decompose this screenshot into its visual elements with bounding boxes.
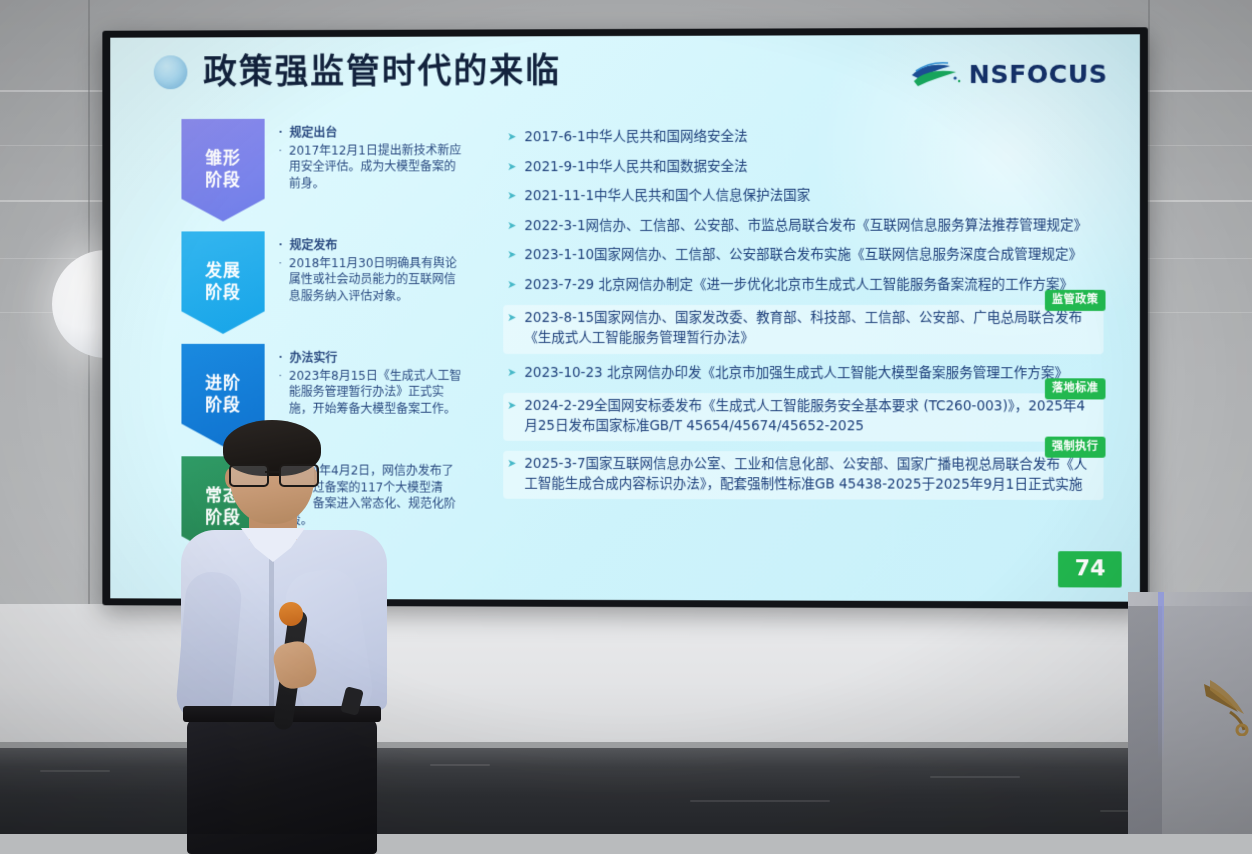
presenter-shirt-placket bbox=[269, 558, 274, 708]
status-badge-supervision-policy: 监管政策 bbox=[1045, 290, 1106, 311]
stage-chevron-2: 发展 阶段 bbox=[181, 231, 264, 334]
bullet-text: 2021-11-1中华人民共和国个人信息保护法国家 bbox=[524, 186, 1103, 206]
arrow-bullet-icon: ➤ bbox=[507, 246, 516, 266]
arrow-bullet-icon: ➤ bbox=[507, 276, 516, 296]
stage-heading-row: · 办法实行 bbox=[279, 350, 466, 367]
arrow-bullet-icon: ➤ bbox=[507, 455, 516, 494]
stage-label-line1: 发展 bbox=[205, 262, 241, 283]
arrow-bullet-icon: ➤ bbox=[507, 187, 516, 207]
stage-detail-row: · 2018年11月30日明确具有舆论属性或社会动员能力的互联网信息服务纳入评估… bbox=[279, 255, 466, 305]
stage-detail-row: · 2023年8月15日《生成式人工智能服务管理暂行办法》正式实施，开始筹备大模… bbox=[279, 367, 466, 417]
presenter-person bbox=[175, 420, 390, 834]
slide-title-row: 政策强监管时代的来临 bbox=[154, 54, 561, 89]
list-item: ➤ 2021-11-1中华人民共和国个人信息保护法国家 bbox=[507, 186, 1103, 206]
stage-label-line1: 进阶 bbox=[205, 374, 241, 395]
stage-detail: 2018年11月30日明确具有舆论属性或社会动员能力的互联网信息服务纳入评估对象… bbox=[289, 255, 465, 305]
lectern-podium bbox=[1128, 592, 1252, 834]
stage-heading: 规定发布 bbox=[290, 237, 338, 254]
stage-item: 雏形 阶段 · 规定出台 · 2017年12月1日提出新技术新应用安全评估。成为… bbox=[181, 118, 469, 221]
status-badge-mandatory-enforcement: 强制执行 bbox=[1045, 437, 1106, 458]
bullet-text: 2023-10-23 北京网信办印发《北京市加强生成式人工智能大模型备案服务管理… bbox=[524, 363, 1103, 383]
arrow-bullet-icon: ➤ bbox=[507, 309, 516, 348]
stage-heading: 办法实行 bbox=[290, 350, 338, 367]
bullet-text: 2022-3-1网信办、工信部、公安部、市监总局联合发布《互联网信息服务算法推荐… bbox=[524, 216, 1103, 236]
stage-label-line2: 阶段 bbox=[205, 395, 241, 416]
nsfocus-logo: NSFOCUS bbox=[909, 59, 1107, 90]
arrow-bullet-icon: ➤ bbox=[507, 158, 516, 178]
stage-label-line1: 雏形 bbox=[205, 149, 241, 170]
stage-heading-row: · 规定发布 bbox=[279, 237, 466, 254]
bullet-dot-icon: · bbox=[279, 125, 283, 141]
wall-seam bbox=[1148, 0, 1150, 640]
podium-emblem-icon bbox=[1200, 678, 1252, 736]
bullet-text: 2025-3-7国家互联网信息办公室、工业和信息化部、公安部、国家广播电视总局联… bbox=[524, 455, 1096, 495]
list-item-highlighted: ➤ 2023-8-15国家网信办、国家发改委、教育部、科技部、工信部、公安部、广… bbox=[503, 305, 1103, 353]
bullet-text: 2024-2-29全国网安标委发布《生成式人工智能服务安全基本要求 (TC260… bbox=[524, 397, 1096, 437]
presenter-glasses-icon bbox=[229, 464, 317, 483]
podium-top-surface bbox=[1128, 592, 1252, 606]
bullet-dot-icon: · bbox=[279, 255, 282, 304]
bullet-text: 2023-1-10国家网信办、工信部、公安部联合发布实施《互联网信息服务深度合成… bbox=[524, 246, 1103, 266]
stage-heading-row: · 规定出台 bbox=[279, 124, 466, 141]
nsfocus-logo-text: NSFOCUS bbox=[969, 59, 1108, 89]
bullet-text: 2021-9-1中华人民共和国数据安全法 bbox=[524, 157, 1103, 178]
title-bullet-circle-icon bbox=[154, 55, 188, 89]
stage-chevron-1: 雏形 阶段 bbox=[181, 119, 264, 222]
bullet-dot-icon: · bbox=[279, 142, 282, 191]
stage-item: 发展 阶段 · 规定发布 · 2018年11月30日明确具有舆论属性或社会动员能… bbox=[181, 231, 469, 334]
stage-body-2: · 规定发布 · 2018年11月30日明确具有舆论属性或社会动员能力的互联网信… bbox=[265, 231, 470, 334]
arrow-bullet-icon: ➤ bbox=[507, 217, 516, 237]
list-item: ➤ 2023-1-10国家网信办、工信部、公安部联合发布实施《互联网信息服务深度… bbox=[507, 246, 1103, 266]
bullet-dot-icon: · bbox=[279, 237, 283, 253]
stage-detail: 2017年12月1日提出新技术新应用安全评估。成为大模型备案的前身。 bbox=[289, 142, 465, 192]
arrow-bullet-icon: ➤ bbox=[507, 397, 516, 436]
podium-side-panel bbox=[1128, 592, 1162, 834]
stage-detail-row: · 2017年12月1日提出新技术新应用安全评估。成为大模型备案的前身。 bbox=[279, 142, 466, 192]
bullet-dot-icon: · bbox=[279, 350, 283, 366]
arrow-bullet-icon: ➤ bbox=[507, 128, 516, 148]
bullet-text: 2023-8-15国家网信办、国家发改委、教育部、科技部、工信部、公安部、广电总… bbox=[524, 309, 1096, 348]
arrow-bullet-icon: ➤ bbox=[507, 363, 516, 383]
list-item: ➤ 2022-3-1网信办、工信部、公安部、市监总局联合发布《互联网信息服务算法… bbox=[507, 216, 1103, 236]
policy-timeline-list: ➤ 2017-6-1中华人民共和国网络安全法 ➤ 2021-9-1中华人民共和国… bbox=[507, 127, 1103, 510]
stage-label-line2: 阶段 bbox=[205, 283, 241, 304]
stage-label-line2: 阶段 bbox=[205, 170, 241, 191]
page-number-badge: 74 bbox=[1058, 551, 1121, 587]
list-item: ➤ 2021-9-1中华人民共和国数据安全法 bbox=[507, 157, 1103, 178]
stage-heading: 规定出台 bbox=[290, 125, 338, 142]
page-title: 政策强监管时代的来临 bbox=[203, 54, 561, 89]
nsfocus-logo-mark-icon bbox=[909, 59, 961, 89]
list-item: ➤ 2017-6-1中华人民共和国网络安全法 bbox=[507, 127, 1103, 148]
list-item: ➤ 2023-7-29 北京网信办制定《进一步优化北京市生成式人工智能服务备案流… bbox=[507, 276, 1103, 296]
list-item-highlighted: ➤ 2024-2-29全国网安标委发布《生成式人工智能服务安全基本要求 (TC2… bbox=[503, 393, 1103, 442]
bullet-dot-icon: · bbox=[279, 367, 282, 416]
bullet-text: 2017-6-1中华人民共和国网络安全法 bbox=[524, 127, 1103, 148]
bullet-text: 2023-7-29 北京网信办制定《进一步优化北京市生成式人工智能服务备案流程的… bbox=[524, 276, 1103, 296]
status-badge-implementation-standard: 落地标准 bbox=[1045, 378, 1106, 399]
podium-edge-light bbox=[1158, 592, 1164, 792]
stage-body-1: · 规定出台 · 2017年12月1日提出新技术新应用安全评估。成为大模型备案的… bbox=[265, 118, 470, 221]
list-item-highlighted: ➤ 2025-3-7国家互联网信息办公室、工业和信息化部、公安部、国家广播电视总… bbox=[503, 451, 1103, 500]
stage-detail: 2023年8月15日《生成式人工智能服务管理暂行办法》正式实施，开始筹备大模型备… bbox=[289, 367, 465, 417]
list-item: ➤ 2023-10-23 北京网信办印发《北京市加强生成式人工智能大模型备案服务… bbox=[507, 363, 1103, 383]
